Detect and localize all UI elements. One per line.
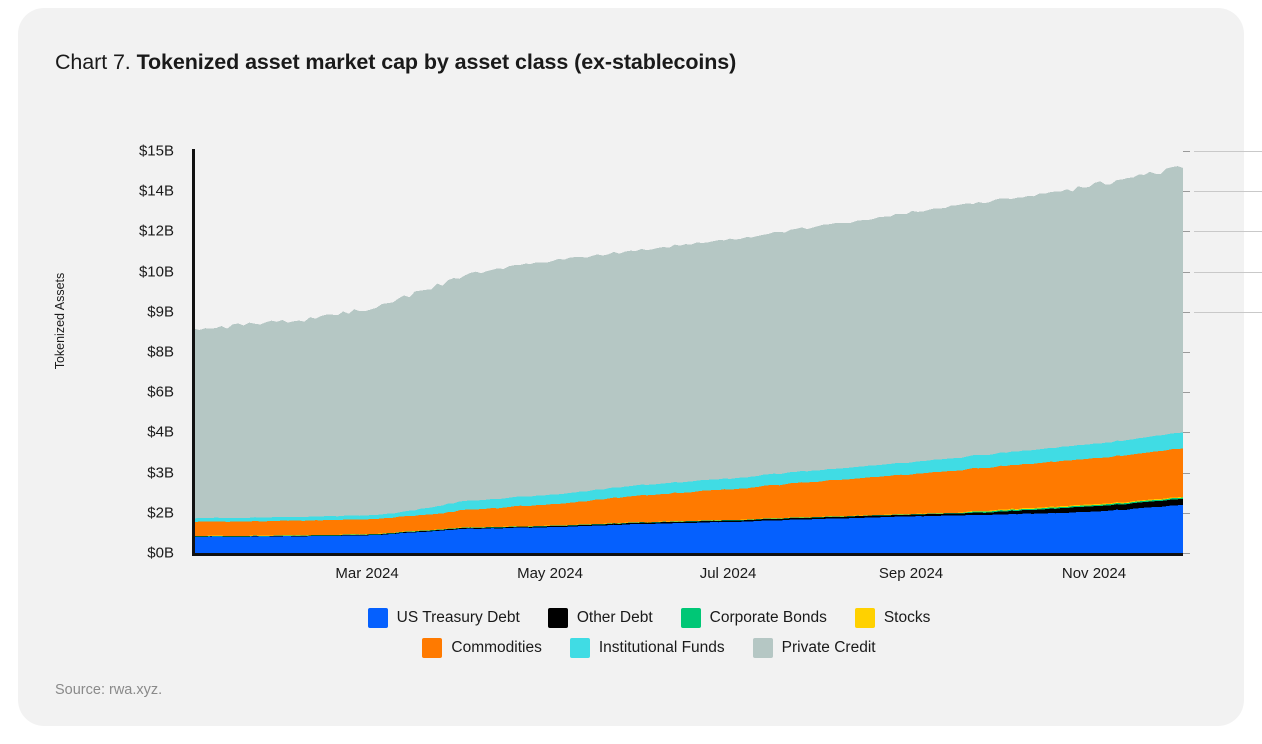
- y-axis-tick-label: $10B: [54, 263, 174, 280]
- legend-item-label: Corporate Bonds: [710, 609, 827, 627]
- y-axis-tick-mark: [1183, 191, 1190, 192]
- legend-item-label: Other Debt: [577, 609, 653, 627]
- chart-legend: US Treasury DebtOther DebtCorporate Bond…: [18, 608, 1262, 658]
- y-axis-tick-label: $4B: [54, 424, 174, 441]
- x-axis-tick-label: Sep 2024: [879, 565, 943, 582]
- legend-item-private-credit[interactable]: Private Credit: [753, 638, 876, 658]
- page-title: Chart 7. Tokenized asset market cap by a…: [55, 50, 736, 75]
- source-note: Source: rwa.xyz.: [55, 682, 162, 698]
- y-axis-tick-mark: [1183, 352, 1190, 353]
- legend-swatch-icon: [368, 608, 388, 628]
- y-axis-tick-mark: [1183, 231, 1190, 232]
- y-axis-tick-mark: [1183, 272, 1190, 273]
- chart-title-text: Tokenized asset market cap by asset clas…: [137, 50, 737, 74]
- legend-swatch-icon: [855, 608, 875, 628]
- legend-item-corporate-bonds[interactable]: Corporate Bonds: [681, 608, 827, 628]
- legend-item-label: Private Credit: [782, 639, 876, 657]
- y-axis-tick-mark: [1183, 312, 1190, 313]
- y-axis-tick-label: $6B: [54, 384, 174, 401]
- y-axis-tick-mark: [1183, 553, 1190, 554]
- gridline: [1194, 151, 1262, 152]
- x-axis-line: [192, 553, 1183, 556]
- y-axis-tick-mark: [1183, 513, 1190, 514]
- y-axis-tick-label: $12B: [54, 223, 174, 240]
- y-axis-line: [192, 149, 195, 555]
- legend-item-label: US Treasury Debt: [397, 609, 520, 627]
- legend-swatch-icon: [570, 638, 590, 658]
- gridline: [1194, 231, 1262, 232]
- gridline: [1194, 191, 1262, 192]
- plot-area: $15B$14B$12B$10B$9B$8B$6B$4B$3B$2B$0B Ma…: [176, 133, 1186, 555]
- chart-number: Chart 7.: [55, 50, 131, 74]
- chart-card: Chart 7. Tokenized asset market cap by a…: [18, 8, 1244, 726]
- legend-item-label: Institutional Funds: [599, 639, 725, 657]
- y-axis-tick-mark: [1183, 432, 1190, 433]
- gridline: [1194, 272, 1262, 273]
- legend-item-other-debt[interactable]: Other Debt: [548, 608, 653, 628]
- y-axis-tick-label: $15B: [54, 143, 174, 160]
- y-axis-tick-label: $0B: [54, 545, 174, 562]
- y-axis-tick-mark: [1183, 473, 1190, 474]
- legend-swatch-icon: [548, 608, 568, 628]
- legend-swatch-icon: [422, 638, 442, 658]
- y-axis-tick-label: $9B: [54, 303, 174, 320]
- y-axis-tick-label: $3B: [54, 464, 174, 481]
- area-chart-svg: [194, 151, 1183, 553]
- legend-row-2: CommoditiesInstitutional FundsPrivate Cr…: [18, 638, 1262, 658]
- x-axis-tick-label: Jul 2024: [700, 565, 757, 582]
- legend-swatch-icon: [753, 638, 773, 658]
- legend-item-stocks[interactable]: Stocks: [855, 608, 931, 628]
- legend-item-label: Stocks: [884, 609, 931, 627]
- x-axis-tick-label: May 2024: [517, 565, 583, 582]
- y-axis-tick-label: $14B: [54, 183, 174, 200]
- x-axis-tick-label: Nov 2024: [1062, 565, 1126, 582]
- legend-item-label: Commodities: [451, 639, 541, 657]
- legend-item-us-treasury-debt[interactable]: US Treasury Debt: [368, 608, 520, 628]
- stacked-area-plot: [194, 151, 1183, 553]
- y-axis-tick-label: $8B: [54, 344, 174, 361]
- legend-item-institutional-funds[interactable]: Institutional Funds: [570, 638, 725, 658]
- legend-item-commodities[interactable]: Commodities: [422, 638, 541, 658]
- gridline: [1194, 312, 1262, 313]
- legend-row-1: US Treasury DebtOther DebtCorporate Bond…: [18, 608, 1262, 628]
- y-axis-tick-mark: [1183, 151, 1190, 152]
- y-axis-tick-mark: [1183, 392, 1190, 393]
- x-axis-tick-label: Mar 2024: [335, 565, 398, 582]
- legend-swatch-icon: [681, 608, 701, 628]
- y-axis-tick-label: $2B: [54, 504, 174, 521]
